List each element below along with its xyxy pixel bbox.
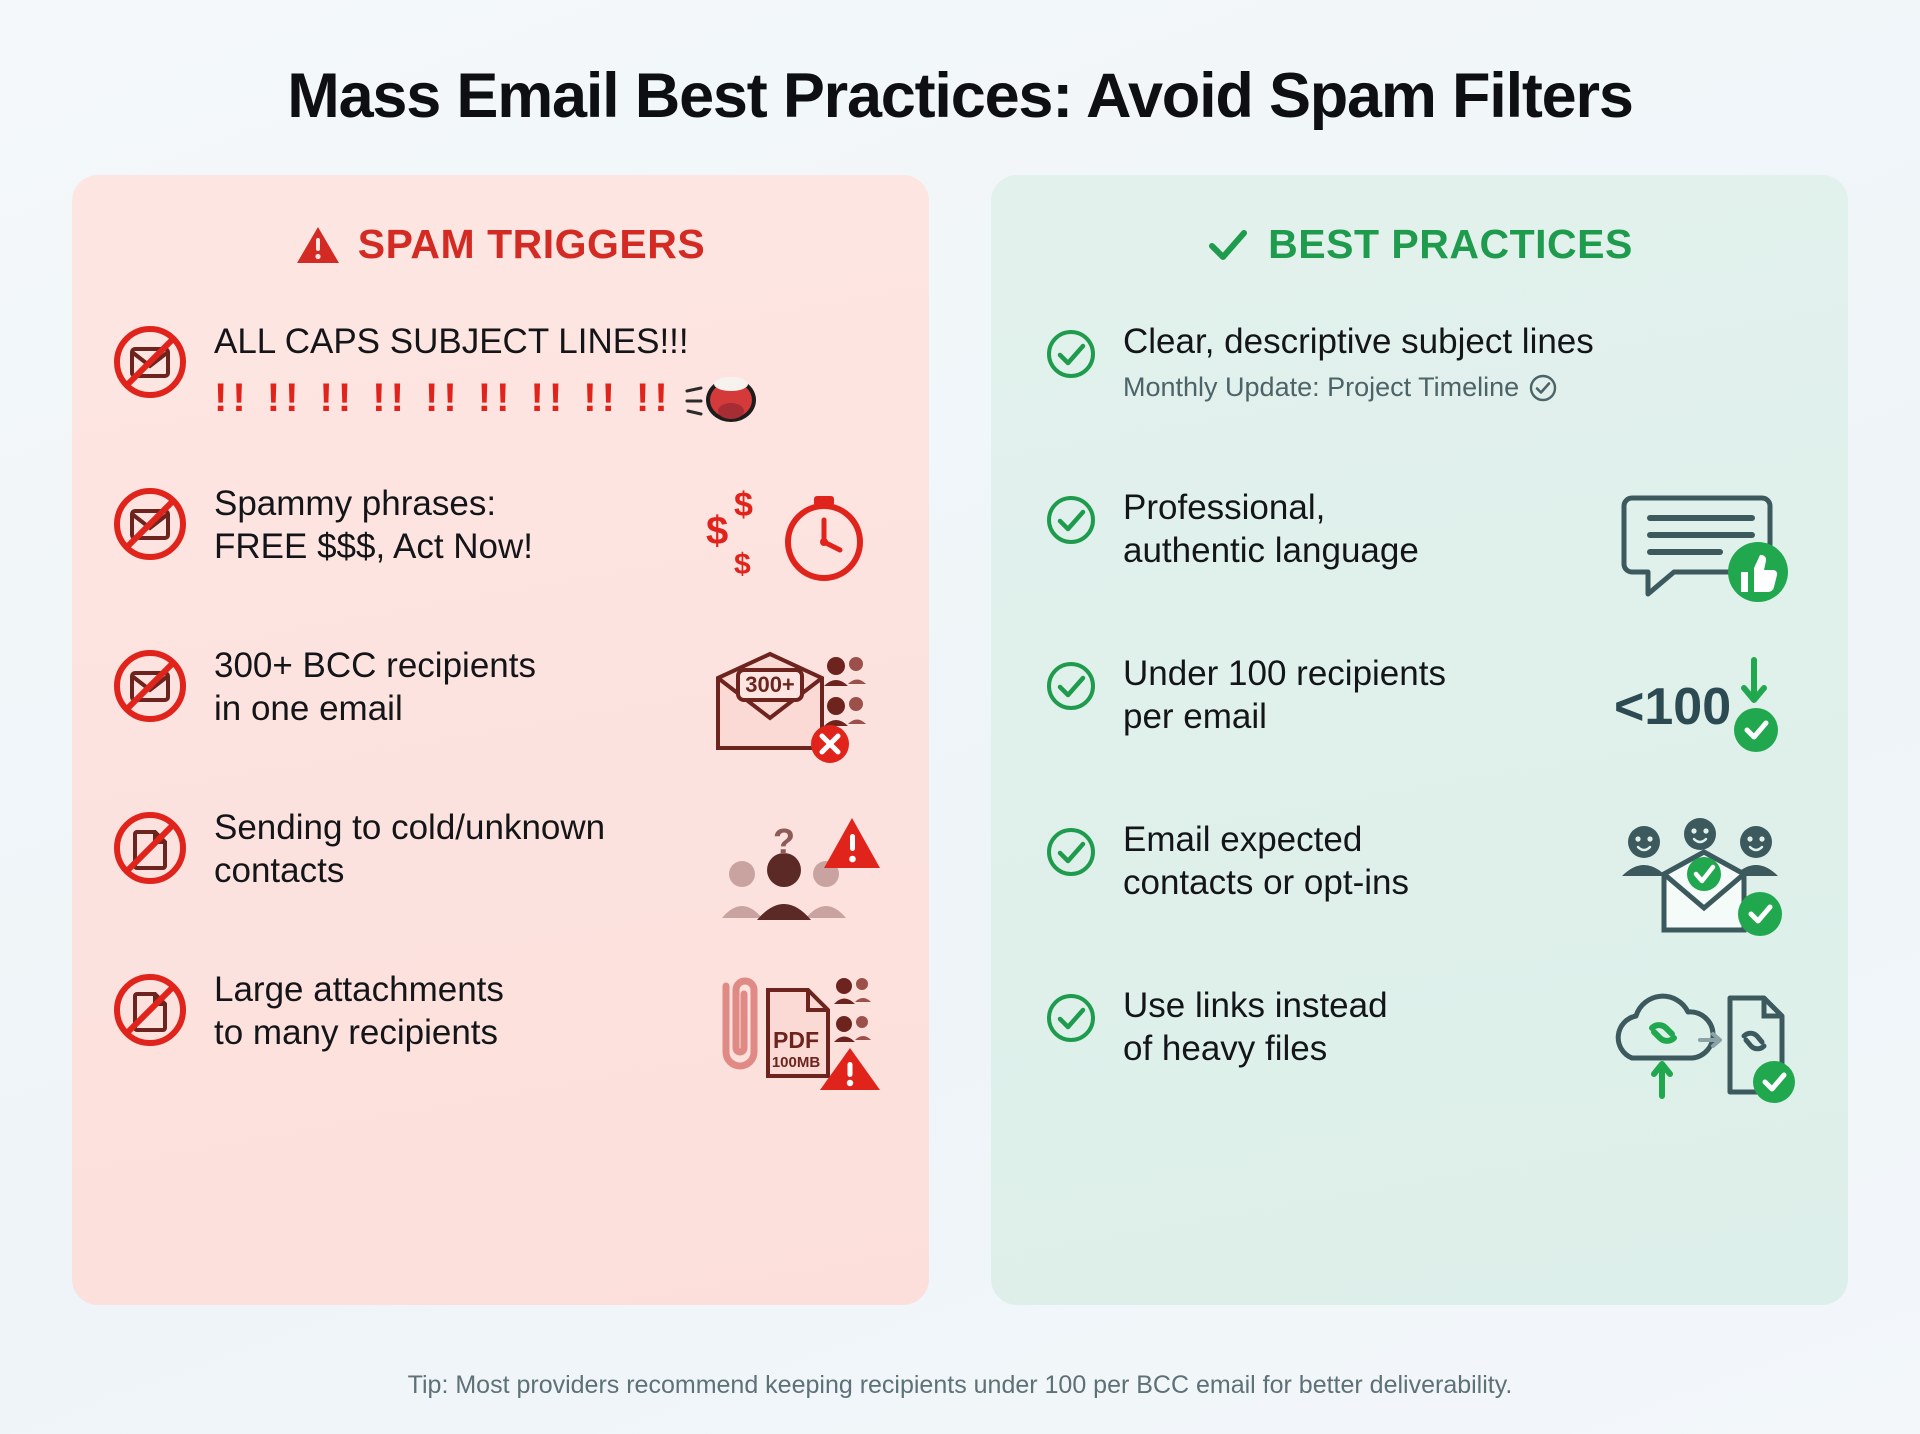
- no-email-icon: [112, 486, 188, 562]
- list-item-text: 300+ BCC recipientsin one email: [214, 644, 673, 730]
- chat-thumbs-up-icon: [1598, 486, 1808, 611]
- check-icon: [1206, 225, 1250, 265]
- dollar-signs-stopwatch-icon: $ $ $: [699, 482, 889, 592]
- people-envelope-check-icon: [1598, 818, 1808, 943]
- check-circle-small-icon: [1529, 374, 1557, 402]
- no-email-icon: [112, 324, 188, 400]
- check-circle-icon: [1045, 660, 1097, 712]
- pdf-label: PDF: [773, 1027, 819, 1053]
- svg-text:$: $: [706, 509, 728, 553]
- list-item: Professional,authentic language: [1031, 486, 1808, 636]
- best-practices-title: BEST PRACTICES: [1268, 221, 1633, 268]
- subject-line-example-text: Monthly Update: Project Timeline: [1123, 372, 1519, 403]
- footer-tip: Tip: Most providers recommend keeping re…: [0, 1371, 1920, 1400]
- check-circle-icon: [1045, 826, 1097, 878]
- best-practices-panel: BEST PRACTICES Clear, descriptive subjec…: [991, 175, 1848, 1305]
- page-title: Mass Email Best Practices: Avoid Spam Fi…: [0, 0, 1920, 131]
- pdf-size-label: 100MB: [772, 1054, 821, 1071]
- exclamation-marks: !! !! !! !! !! !! !! !! !!: [214, 376, 673, 421]
- no-email-icon: [112, 648, 188, 724]
- list-item: Large attachmentsto many recipients PDF …: [112, 968, 889, 1118]
- shouting-mouth-icon: [685, 371, 759, 425]
- svg-text:$: $: [734, 548, 751, 581]
- list-item-text: Sending to cold/unknowncontacts: [214, 806, 673, 892]
- under-100-arrow-check-icon: <100: [1598, 652, 1808, 762]
- exclamation-row: !! !! !! !! !! !! !! !! !!: [214, 371, 889, 425]
- pdf-attachment-warning-icon: PDF 100MB: [699, 968, 889, 1093]
- spam-triggers-panel: SPAM TRIGGERS ALL CAPS SUBJECT LINE: [72, 175, 929, 1305]
- list-item: Under 100 recipientsper email <100: [1031, 652, 1808, 802]
- svg-text:$: $: [734, 486, 753, 524]
- envelope-300plus-people-x-icon: 300+: [699, 644, 889, 769]
- no-document-icon: [112, 810, 188, 886]
- svg-text:?: ?: [773, 821, 795, 862]
- unknown-contacts-warning-icon: ?: [699, 806, 889, 931]
- no-document-icon: [112, 972, 188, 1048]
- under-100-label: <100: [1614, 678, 1731, 736]
- list-item: Email expectedcontacts or opt-ins: [1031, 818, 1808, 968]
- spam-triggers-title: SPAM TRIGGERS: [358, 221, 705, 268]
- list-item-text: Under 100 recipientsper email: [1123, 652, 1572, 738]
- list-item: Sending to cold/unknowncontacts ?: [112, 806, 889, 956]
- check-circle-icon: [1045, 992, 1097, 1044]
- list-item-text: Email expectedcontacts or opt-ins: [1123, 818, 1572, 904]
- infographic-page: Mass Email Best Practices: Avoid Spam Fi…: [0, 0, 1920, 1434]
- cloud-link-file-check-icon: [1598, 984, 1808, 1109]
- list-item-text: Large attachmentsto many recipients: [214, 968, 673, 1054]
- list-item: 300+ BCC recipientsin one email 300+: [112, 644, 889, 794]
- list-item-text: Clear, descriptive subject lines: [1123, 320, 1808, 363]
- list-item-text: ALL CAPS SUBJECT LINES!!!: [214, 320, 889, 363]
- best-practices-list: Clear, descriptive subject lines Monthly…: [1031, 320, 1808, 1150]
- envelope-count-label: 300+: [745, 672, 795, 697]
- list-item-text: Use links insteadof heavy files: [1123, 984, 1572, 1070]
- check-circle-icon: [1045, 494, 1097, 546]
- list-item: Spammy phrases:FREE $$$, Act Now! $ $ $: [112, 482, 889, 632]
- list-item-text: Spammy phrases:FREE $$$, Act Now!: [214, 482, 673, 568]
- spam-triggers-list: ALL CAPS SUBJECT LINES!!! !! !! !! !! !!…: [112, 320, 889, 1130]
- spam-triggers-header: SPAM TRIGGERS: [112, 221, 889, 268]
- list-item-text: Professional,authentic language: [1123, 486, 1572, 572]
- check-circle-icon: [1045, 328, 1097, 380]
- list-item: Use links insteadof heavy files: [1031, 984, 1808, 1134]
- warning-triangle-icon: [296, 225, 340, 265]
- best-practices-header: BEST PRACTICES: [1031, 221, 1808, 268]
- subject-line-example: Monthly Update: Project Timeline: [1123, 372, 1808, 403]
- list-item: Clear, descriptive subject lines Monthly…: [1031, 320, 1808, 470]
- panels-container: SPAM TRIGGERS ALL CAPS SUBJECT LINE: [0, 131, 1920, 1305]
- list-item: ALL CAPS SUBJECT LINES!!! !! !! !! !! !!…: [112, 320, 889, 470]
